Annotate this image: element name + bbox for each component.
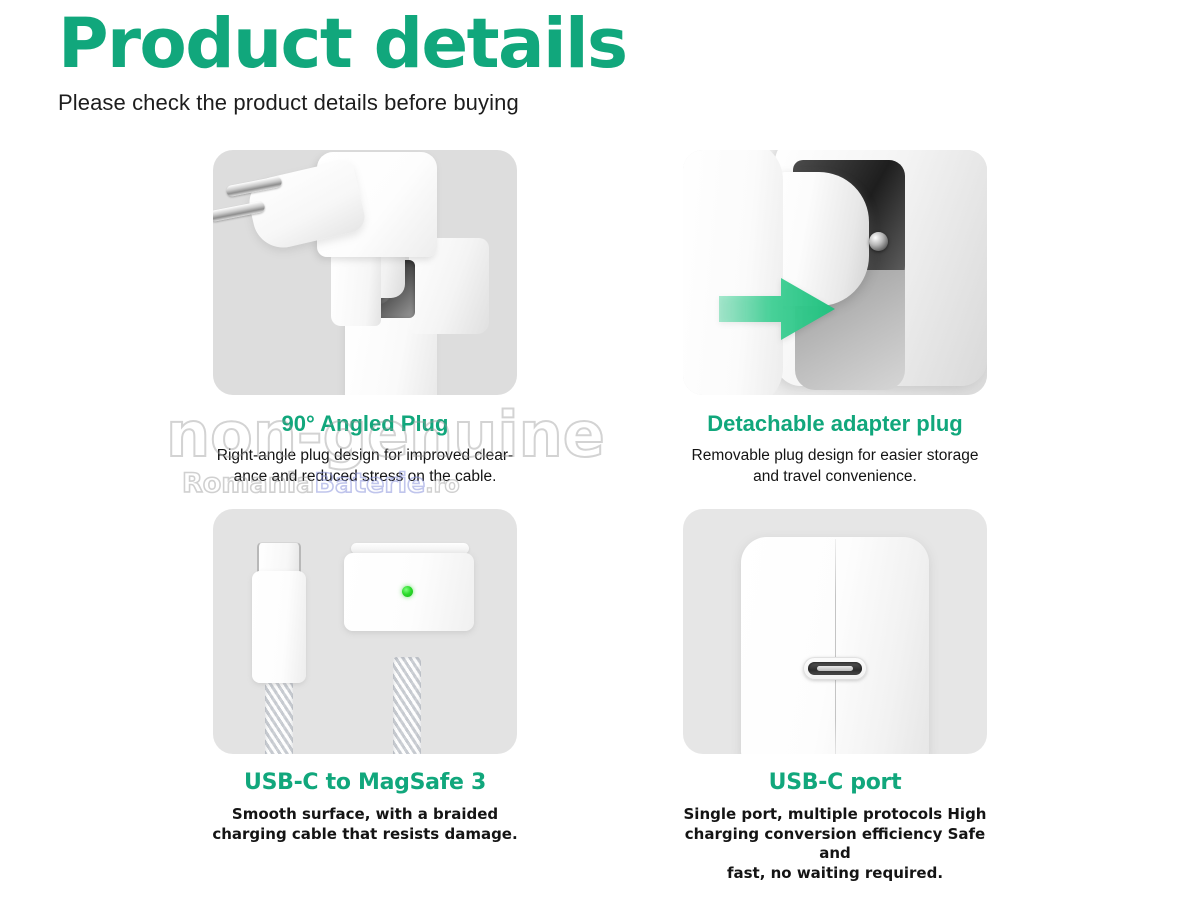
feature-desc-line: Right-angle plug design for improved cle… bbox=[217, 447, 513, 464]
feature-desc-line: Single port, multiple protocols High bbox=[684, 805, 987, 823]
detachable-plug-image bbox=[683, 150, 987, 395]
plug-screw-dot bbox=[869, 232, 888, 251]
feature-grid: 90° Angled Plug Right-angle plug design … bbox=[0, 150, 1200, 883]
feature-desc-angled-plug: Right-angle plug design for improved cle… bbox=[215, 446, 515, 486]
feature-card-angled-plug: 90° Angled Plug Right-angle plug design … bbox=[211, 150, 519, 487]
feature-desc-line: charging conversion efficiency Safe and bbox=[685, 825, 985, 863]
usbc-magsafe-image bbox=[213, 509, 517, 754]
plug-connector-block bbox=[331, 246, 381, 326]
feature-title-usbc-port: USB-C port bbox=[769, 770, 902, 796]
usbc-connector-tip bbox=[257, 542, 301, 574]
feature-desc-usbc-port: Single port, multiple protocols High cha… bbox=[670, 805, 1000, 883]
usbc-port-image bbox=[683, 509, 987, 754]
feature-card-usbc-port: USB-C port Single port, multiple protoco… bbox=[681, 509, 989, 883]
usbc-port-opening bbox=[803, 657, 867, 680]
feature-desc-line: and travel convenience. bbox=[753, 468, 917, 485]
feature-desc-line: charging cable that resists damage. bbox=[212, 825, 517, 843]
feature-card-detachable-plug: Detachable adapter plug Removable plug d… bbox=[681, 150, 989, 487]
braided-cable-right bbox=[393, 657, 421, 754]
feature-row-top: 90° Angled Plug Right-angle plug design … bbox=[0, 150, 1200, 487]
page-header: Product details Please check the product… bbox=[58, 8, 758, 116]
magsafe-status-led bbox=[402, 586, 413, 597]
feature-title-detachable-plug: Detachable adapter plug bbox=[670, 411, 1000, 437]
feature-title-usbc-magsafe: USB-C to MagSafe 3 bbox=[244, 770, 486, 796]
feature-card-usbc-magsafe: USB-C to MagSafe 3 Smooth surface, with … bbox=[211, 509, 519, 844]
braided-cable-left bbox=[265, 681, 293, 754]
feature-desc-line: fast, no waiting required. bbox=[727, 864, 943, 882]
feature-desc-line: ance and reduced stress on the cable. bbox=[234, 468, 497, 485]
feature-row-bottom: USB-C to MagSafe 3 Smooth surface, with … bbox=[0, 509, 1200, 883]
page-subtitle: Please check the product details before … bbox=[58, 90, 758, 116]
usbc-port-cavity bbox=[808, 662, 862, 675]
adapter-seam-line bbox=[835, 539, 836, 754]
feature-desc-line: Smooth surface, with a braided bbox=[232, 805, 498, 823]
page-title: Product details bbox=[58, 8, 758, 80]
plug-module-left bbox=[683, 150, 783, 395]
feature-desc-usbc-magsafe: Smooth surface, with a braided charging … bbox=[209, 805, 521, 844]
product-details-page: Product details Please check the product… bbox=[0, 0, 1200, 900]
feature-title-angled-plug: 90° Angled Plug bbox=[282, 411, 449, 437]
feature-desc-detachable-plug: Removable plug design for easier storage… bbox=[670, 446, 1000, 486]
feature-desc-line: Removable plug design for easier storage bbox=[692, 447, 979, 464]
angled-plug-image bbox=[213, 150, 517, 395]
green-arrow-icon bbox=[719, 276, 835, 342]
usbc-connector-body bbox=[252, 571, 306, 683]
usbc-port-tongue bbox=[817, 666, 853, 671]
